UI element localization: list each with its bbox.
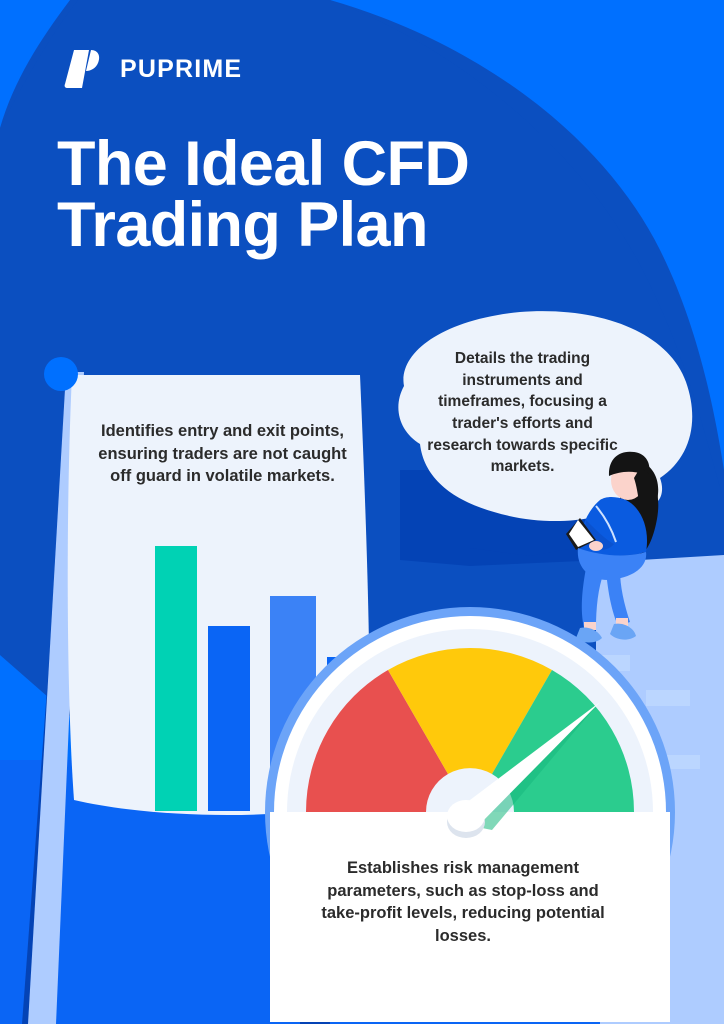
infographic-poster: PUPRIME The Ideal CFD Trading Plan Ident… — [0, 0, 724, 1024]
page-title: The Ideal CFD Trading Plan — [57, 134, 617, 256]
gauge-hub — [447, 800, 485, 832]
flipchart-note-text: Identifies entry and exit points, ensuri… — [95, 420, 350, 488]
title-line-1: The Ideal CFD — [57, 134, 617, 195]
brand-logo[interactable]: PUPRIME — [60, 46, 242, 92]
puprime-p-logo-icon — [60, 46, 106, 92]
brand-name: PUPRIME — [120, 55, 242, 84]
speech-bubble-text: Details the trading instruments and time… — [420, 348, 625, 478]
gauge-note-text: Establishes risk management parameters, … — [318, 857, 608, 947]
title-line-2: Trading Plan — [57, 195, 617, 256]
